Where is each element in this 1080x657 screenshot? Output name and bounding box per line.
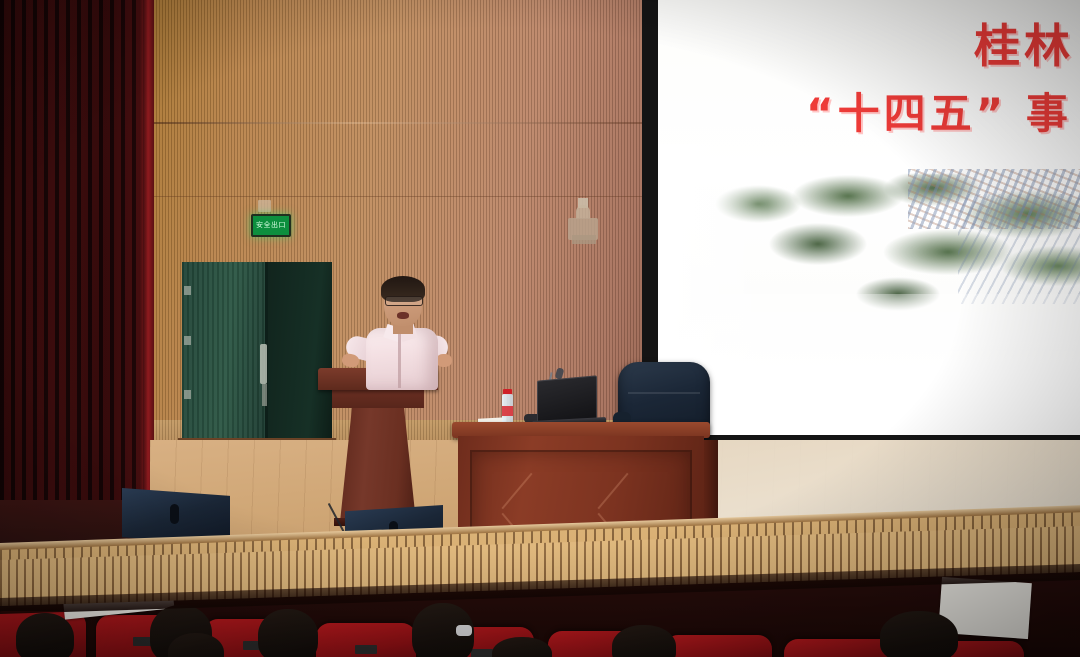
audience-head <box>612 625 676 657</box>
sign-mount-bracket <box>258 200 271 212</box>
speaker-person <box>340 272 458 382</box>
table-chevron <box>597 473 628 510</box>
door-leaf-right <box>265 262 333 440</box>
slide-photo-town-detail <box>958 194 1080 304</box>
door-hinge <box>184 286 191 295</box>
speaker-shirt-placket <box>398 330 401 388</box>
door-hinge <box>184 336 191 345</box>
door-leaf-left <box>182 262 265 440</box>
audience-head <box>258 609 318 657</box>
wall-seam-secondary <box>150 196 660 197</box>
bottle-label <box>502 406 513 416</box>
wall-seam <box>150 122 660 124</box>
auditorium-seat[interactable] <box>316 623 416 657</box>
emergency-exit-icon: 安全出口 <box>251 214 291 237</box>
slide-title-line1: 桂林 <box>658 22 1080 70</box>
lectern-body <box>340 406 416 522</box>
seat-number-tag <box>355 645 377 654</box>
stage-curtain <box>0 0 152 535</box>
speaker-right-hand <box>436 354 452 367</box>
auditorium-photo: 安全出口 桂林 “十四五” 事 <box>0 0 1080 657</box>
projection-screen: 桂林 “十四五” 事 <box>658 0 1080 435</box>
door-lock[interactable] <box>262 384 267 406</box>
audience-head <box>492 637 552 657</box>
door-hinge <box>184 390 191 399</box>
slide-title-block: 桂林 “十四五” 事 <box>658 0 1080 136</box>
chair-seam <box>628 392 700 394</box>
slide-photo-fade-bottom <box>658 294 1080 435</box>
seat-number-tag <box>471 649 493 657</box>
auditorium-seat[interactable] <box>664 635 772 657</box>
audience-head <box>16 613 74 657</box>
auditorium-seat[interactable] <box>784 639 894 657</box>
face-mask <box>456 625 472 636</box>
table-chevron <box>501 473 532 510</box>
speaker-port <box>170 504 179 524</box>
door-handle[interactable] <box>260 344 267 384</box>
audience-head <box>412 603 474 657</box>
exit-sign-label: 安全出口 <box>256 222 286 229</box>
wall-fixture-base <box>572 235 596 244</box>
lectern-neck <box>332 388 424 408</box>
audience-head <box>880 611 958 657</box>
exit-door[interactable] <box>182 262 332 440</box>
slide-title-line2: “十四五” 事 <box>658 92 1080 136</box>
wall-fixture-arm <box>576 205 590 219</box>
glasses-icon <box>385 296 423 306</box>
speaker-mouth <box>397 312 409 319</box>
